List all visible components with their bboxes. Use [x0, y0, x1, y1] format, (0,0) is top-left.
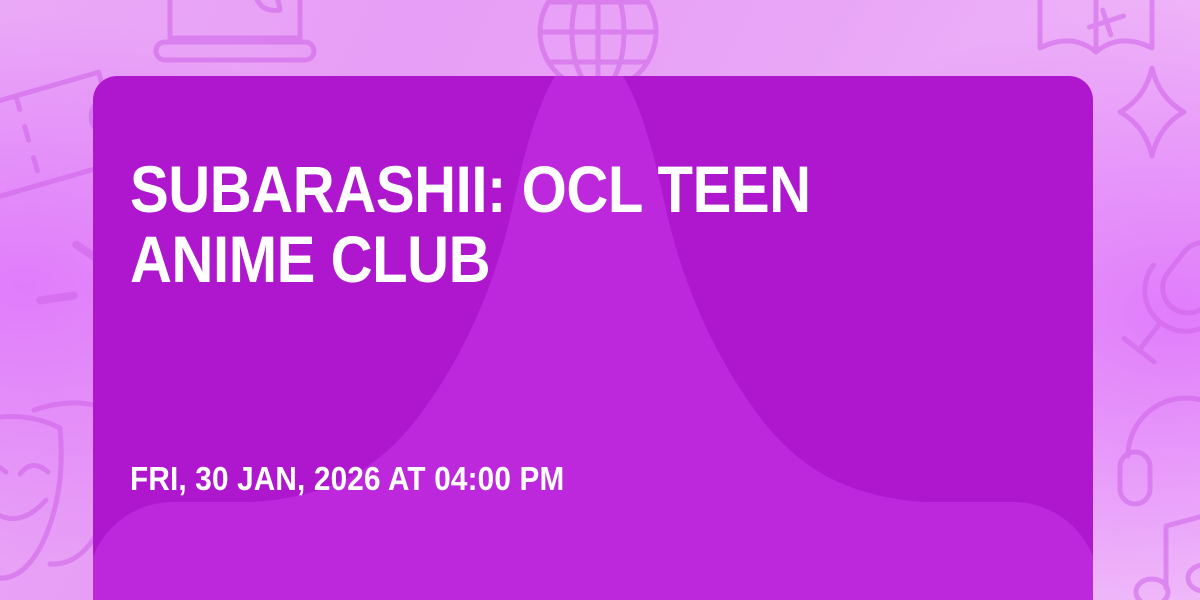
event-card: Subarashii: OCL Teen Anime Club Fri, 30 …: [93, 76, 1093, 600]
plus-mark-icon: [1078, 2, 1148, 62]
event-title: Subarashii: OCL Teen Anime Club: [130, 155, 860, 295]
microphone-icon: [1106, 228, 1200, 378]
event-datetime: Fri, 30 Jan, 2026 at 04:00 PM: [130, 460, 564, 498]
sparkle-icon: [1108, 58, 1198, 168]
laptop-icon: [150, 0, 320, 74]
event-card-content: Subarashii: OCL Teen Anime Club Fri, 30 …: [130, 76, 1056, 600]
music-note-icon: [1120, 500, 1200, 600]
book-icon: [1020, 0, 1170, 76]
event-banner: Subarashii: OCL Teen Anime Club Fri, 30 …: [0, 0, 1200, 600]
headphones-icon: [1114, 368, 1200, 528]
